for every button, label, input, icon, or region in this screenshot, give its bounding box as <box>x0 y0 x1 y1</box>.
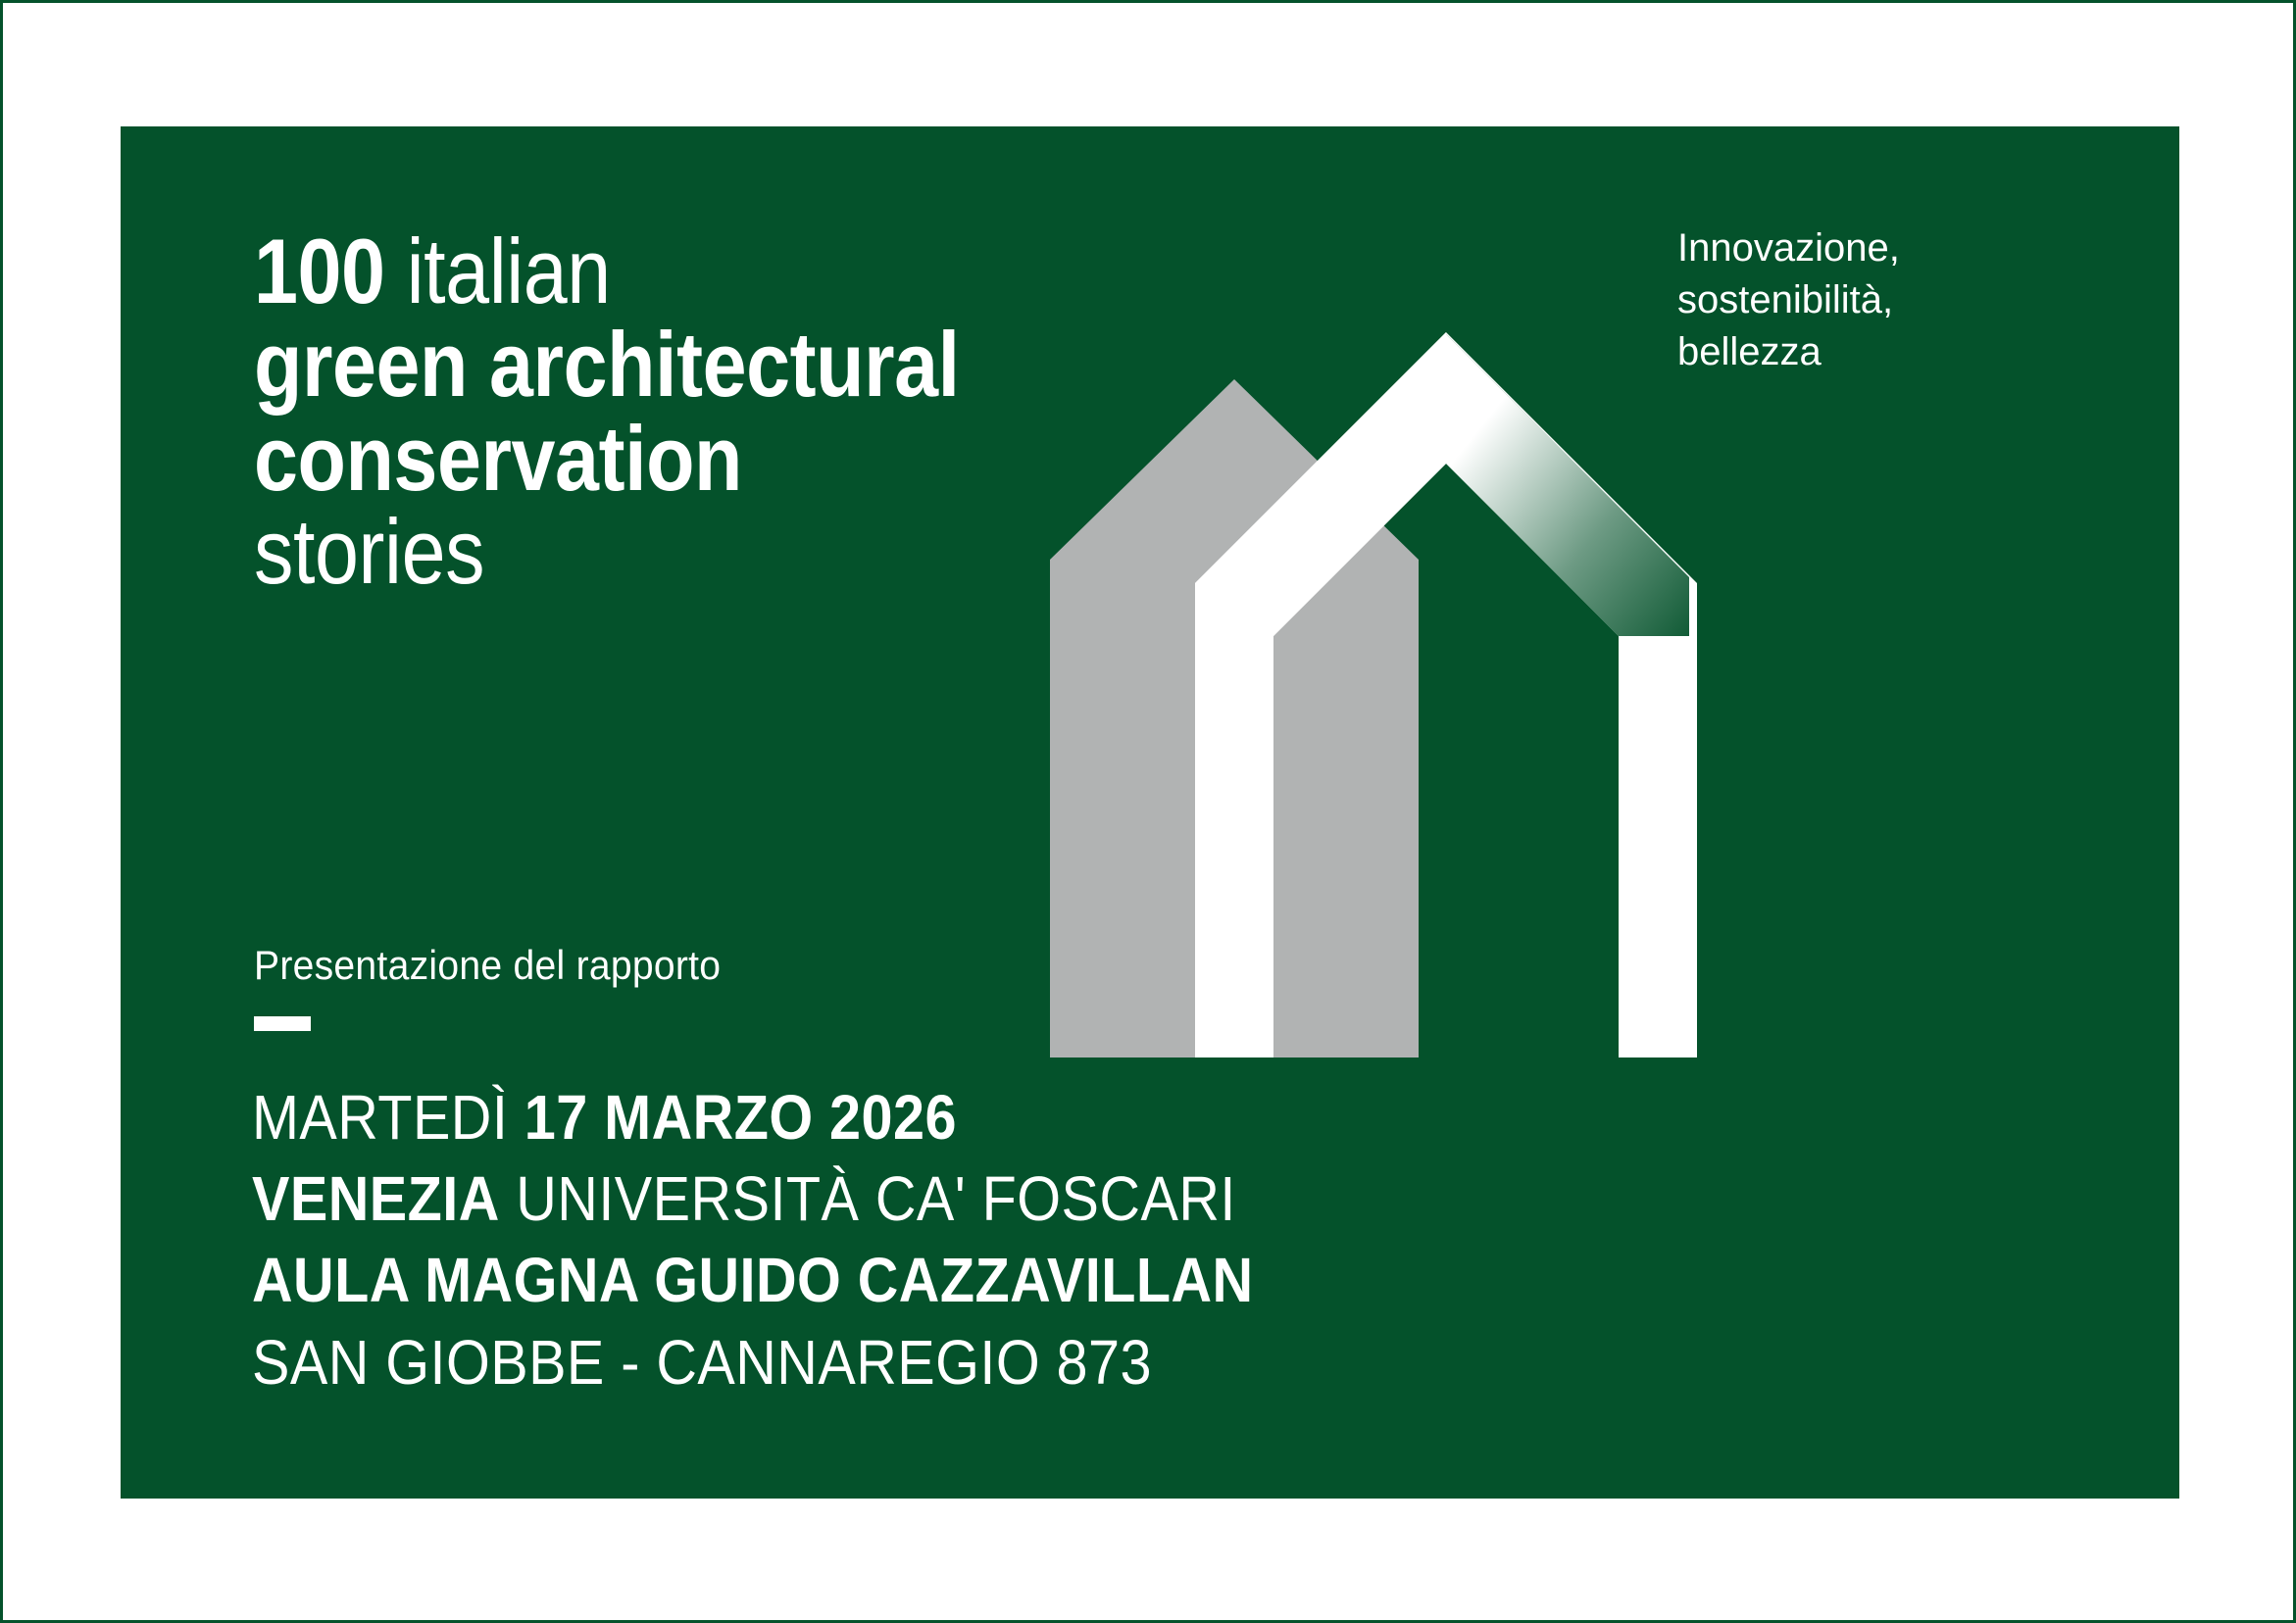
event-details: MARTEDÌ 17 MARZO 2026 VENEZIA UNIVERSITÀ… <box>252 1077 1365 1403</box>
subtitle: Presentazione del rapporto <box>254 942 721 989</box>
outline-left-bar <box>1195 583 1273 1057</box>
poster-title: 100 italian green architectural conserva… <box>254 224 1332 599</box>
tagline-line-1: Innovazione, <box>1677 222 2001 274</box>
tagline-line-3: bellezza <box>1677 326 2001 378</box>
title-line-3: conservation <box>254 412 1181 505</box>
event-date-line: MARTEDÌ 17 MARZO 2026 <box>252 1077 1254 1158</box>
event-venue: UNIVERSITÀ CA' FOSCARI <box>500 1163 1236 1234</box>
tagline: Innovazione, sostenibilità, bellezza <box>1677 222 2001 379</box>
title-italian: italian <box>385 220 611 322</box>
title-line-1: 100 italian <box>254 224 1181 318</box>
tagline-line-2: sostenibilità, <box>1677 274 2001 326</box>
event-hall: AULA MAGNA GUIDO CAZZAVILLAN <box>252 1240 1254 1321</box>
event-address: SAN GIOBBE - CANNAREGIO 873 <box>252 1322 1254 1403</box>
event-date-main: 17 MARZO 2026 <box>524 1082 957 1153</box>
outline-right-bar <box>1619 636 1697 795</box>
event-venue-line: VENEZIA UNIVERSITÀ CA' FOSCARI <box>252 1158 1254 1240</box>
title-line-4: stories <box>254 505 1181 598</box>
title-line-2: green architectural <box>254 318 1181 411</box>
event-city: VENEZIA <box>252 1163 500 1234</box>
roof-gradient-overlay <box>1446 332 1697 646</box>
green-panel: 100 italian green architectural conserva… <box>121 126 2179 1499</box>
title-number: 100 <box>254 220 385 322</box>
event-date-prefix: MARTEDÌ <box>252 1082 524 1153</box>
poster-canvas: 100 italian green architectural conserva… <box>0 0 2296 1623</box>
subtitle-rule <box>254 1016 311 1031</box>
outline-lower-right <box>1619 795 1697 1057</box>
